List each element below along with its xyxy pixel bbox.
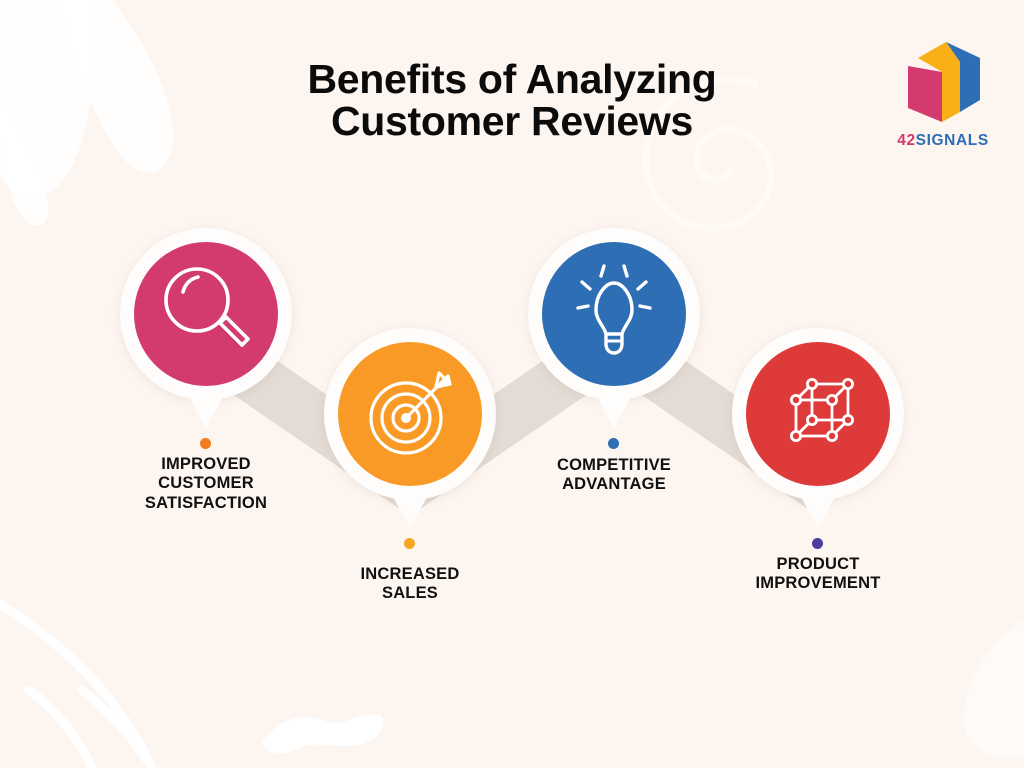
benefit-label-product-improvement: PRODUCT IMPROVEMENT	[718, 555, 918, 594]
label-line: CUSTOMER	[106, 474, 306, 493]
label-line: ADVANTAGE	[514, 475, 714, 494]
pin-dot	[200, 438, 211, 449]
pin-dot	[812, 538, 823, 549]
brand-logo[interactable]: 42SIGNALS	[884, 36, 1002, 158]
label-line: IMPROVEMENT	[718, 574, 918, 593]
label-line: SALES	[310, 584, 510, 603]
logo-text-signals: SIGNALS	[916, 132, 989, 149]
pin-dot	[404, 538, 415, 549]
benefit-label-improved-customer-satisfaction: IMPROVED CUSTOMER SATISFACTION	[106, 455, 306, 513]
lightbulb-icon	[542, 242, 686, 386]
benefit-pin-improved-customer-satisfaction[interactable]	[120, 228, 292, 460]
label-line: IMPROVED	[106, 455, 306, 474]
benefit-label-increased-sales: INCREASED SALES	[310, 565, 510, 604]
label-line: COMPETITIVE	[514, 456, 714, 475]
page-title: Benefits of Analyzing Customer Reviews	[0, 58, 1024, 142]
benefit-pin-increased-sales[interactable]	[324, 328, 496, 560]
wireframe-cube-icon	[746, 342, 890, 486]
logo-wordmark: 42SIGNALS	[884, 132, 1002, 150]
label-line: SATISFACTION	[106, 494, 306, 513]
cube-logo-icon	[898, 36, 988, 130]
benefit-label-competitive-advantage: COMPETITIVE ADVANTAGE	[514, 456, 714, 495]
pin-dot	[608, 438, 619, 449]
infographic-canvas: IMPROVED CUSTOMER SATISFACTION INCREASED…	[0, 0, 1024, 768]
logo-text-42: 42	[897, 132, 915, 149]
target-arrow-icon	[338, 342, 482, 486]
pin-tail	[388, 488, 432, 528]
title-line-1: Benefits of Analyzing	[0, 58, 1024, 100]
label-line: PRODUCT	[718, 555, 918, 574]
pin-tail	[184, 388, 228, 428]
pin-tail	[796, 488, 840, 528]
magnifier-icon	[134, 242, 278, 386]
benefit-pin-product-improvement[interactable]	[732, 328, 904, 560]
benefit-pin-competitive-advantage[interactable]	[528, 228, 700, 460]
label-line: INCREASED	[310, 565, 510, 584]
pin-tail	[592, 388, 636, 428]
title-line-2: Customer Reviews	[0, 100, 1024, 142]
